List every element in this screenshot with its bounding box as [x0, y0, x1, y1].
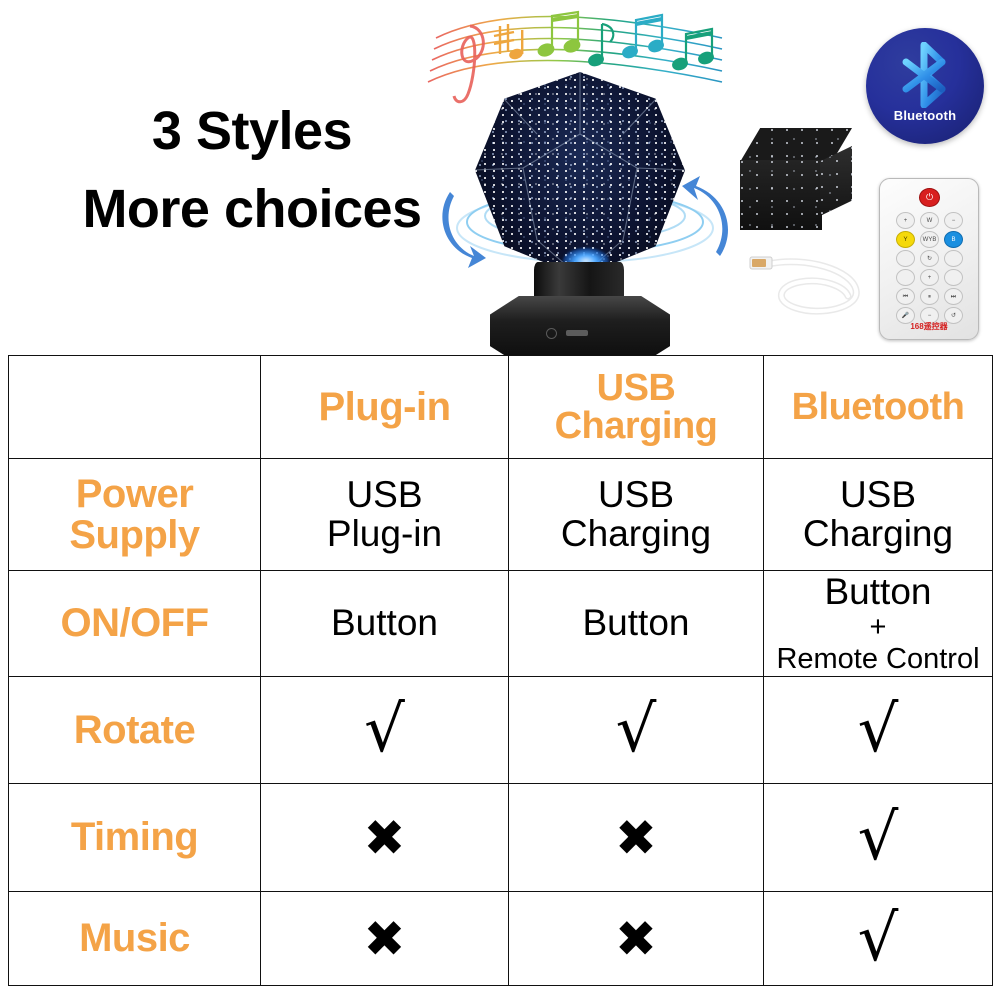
cell-rotate-plugin: √	[261, 677, 509, 784]
remote-plus-button[interactable]: +	[896, 212, 915, 229]
product-hero-image: 3 Styles More choices	[0, 0, 1000, 352]
bluetooth-badge-label: Bluetooth	[866, 108, 984, 123]
gift-box-front	[740, 160, 822, 230]
cell-power-plugin: USB Plug-in	[261, 459, 509, 571]
remote-timer-30-button[interactable]	[896, 269, 915, 286]
table-row-on-off: ON/OFF Button Button Button + Remote Con…	[9, 571, 993, 677]
header-usb-charging-cell: USB Charging	[509, 356, 764, 459]
header-usb-line2: Charging	[509, 407, 763, 445]
bluetooth-badge: Bluetooth	[866, 28, 984, 144]
cell-timing-usb: ✖	[509, 784, 764, 892]
remote-b-button[interactable]: B	[944, 231, 963, 248]
remote-minus-button[interactable]: −	[944, 212, 963, 229]
check-icon: √	[858, 902, 899, 976]
cell-onoff-plugin: Button	[261, 571, 509, 677]
bluetooth-icon	[895, 42, 953, 108]
table-row-music: Music ✖ ✖ √	[9, 892, 993, 986]
row-label-on-off: ON/OFF	[9, 571, 261, 677]
cell-timing-plugin: ✖	[261, 784, 509, 892]
remote-w-button[interactable]: W	[920, 212, 939, 229]
table-header-row: Plug-in USB Charging Bluetooth	[9, 356, 993, 459]
remote-power-button[interactable]: ⏻	[919, 188, 940, 207]
remote-control: ⏻ + W − Y WYB B ↻ + ⏮ ⏸ ⏭ 🎤 − ↺ 168遥控器	[879, 178, 979, 340]
check-icon: √	[616, 693, 657, 767]
cell-onoff-usb: Button	[509, 571, 764, 677]
usb-cable	[748, 248, 874, 318]
row-label-rotate: Rotate	[9, 677, 261, 784]
row-label-timing-text: Timing	[71, 815, 198, 859]
cell-onoff-bt-line1: Button	[764, 573, 992, 612]
row-label-timing: Timing	[9, 784, 261, 892]
remote-y-button[interactable]: Y	[896, 231, 915, 248]
remote-preset-2-button[interactable]	[944, 250, 963, 267]
header-blank-cell	[9, 356, 261, 459]
table-row-timing: Timing ✖ ✖ √	[9, 784, 993, 892]
cell-music-bluetooth: √	[764, 892, 993, 986]
cell-power-bluetooth: USB Charging	[764, 459, 993, 571]
remote-wyb-button[interactable]: WYB	[920, 231, 939, 248]
cell-music-plugin: ✖	[261, 892, 509, 986]
remote-timer-60-button[interactable]	[944, 269, 963, 286]
remote-preset-1-button[interactable]	[896, 250, 915, 267]
cross-icon: ✖	[615, 910, 657, 968]
row-label-music: Music	[9, 892, 261, 986]
row-label-on-off-text: ON/OFF	[60, 601, 208, 645]
cell-power-plugin-line2: Plug-in	[261, 515, 508, 554]
cell-music-usb: ✖	[509, 892, 764, 986]
check-icon: √	[858, 693, 899, 767]
lamp-power-button	[546, 328, 557, 339]
row-label-power-line1: Power	[9, 474, 260, 515]
check-icon: √	[858, 801, 899, 875]
header-bluetooth-cell: Bluetooth	[764, 356, 993, 459]
cell-power-bt-line1: USB	[764, 476, 992, 515]
remote-previous-button[interactable]: ⏮	[896, 288, 915, 305]
header-usb-line1: USB	[509, 369, 763, 407]
remote-volume-up-button[interactable]: +	[920, 269, 939, 286]
cell-onoff-usb-text: Button	[583, 602, 690, 643]
cell-power-usb-line2: Charging	[509, 515, 763, 554]
header-plugin-cell: Plug-in	[261, 356, 509, 459]
row-label-power-supply: Power Supply	[9, 459, 261, 571]
header-plugin-label: Plug-in	[318, 385, 450, 429]
cell-rotate-bluetooth: √	[764, 677, 993, 784]
cell-rotate-usb: √	[509, 677, 764, 784]
star-projector-lamp	[440, 68, 730, 358]
cell-power-usb-line1: USB	[509, 476, 763, 515]
check-icon: √	[364, 693, 405, 767]
cross-icon: ✖	[364, 809, 406, 867]
headline-line-2: More choices	[52, 182, 452, 236]
lamp-usb-port	[566, 330, 588, 336]
remote-rotate-button[interactable]: ↻	[920, 250, 939, 267]
remote-model-label: 168遥控器	[880, 321, 978, 332]
header-bluetooth-label: Bluetooth	[792, 386, 965, 428]
cell-onoff-bt-line3: Remote Control	[764, 644, 992, 674]
row-label-rotate-text: Rotate	[74, 708, 195, 752]
star-globe	[475, 72, 685, 277]
lamp-base	[490, 296, 670, 362]
remote-next-button[interactable]: ⏭	[944, 288, 963, 305]
cell-timing-bluetooth: √	[764, 784, 993, 892]
cell-power-usb: USB Charging	[509, 459, 764, 571]
remote-play-pause-button[interactable]: ⏸	[920, 288, 939, 305]
cell-power-bt-line2: Charging	[764, 515, 992, 554]
cross-icon: ✖	[364, 910, 406, 968]
table-row-power-supply: Power Supply USB Plug-in USB Charging US…	[9, 459, 993, 571]
row-label-power-line2: Supply	[9, 515, 260, 556]
cross-icon: ✖	[615, 809, 657, 867]
cell-onoff-bt-plus: +	[764, 612, 992, 644]
feature-comparison-table: Plug-in USB Charging Bluetooth Power Sup…	[8, 355, 993, 986]
cell-onoff-plugin-text: Button	[331, 602, 438, 643]
gift-box	[740, 128, 852, 232]
globe-facet-edges	[475, 72, 685, 277]
cell-onoff-bluetooth: Button + Remote Control	[764, 571, 993, 677]
table-row-rotate: Rotate √ √ √	[9, 677, 993, 784]
cell-power-plugin-line1: USB	[261, 476, 508, 515]
row-label-music-text: Music	[79, 916, 190, 960]
headline-line-1: 3 Styles	[52, 104, 452, 158]
